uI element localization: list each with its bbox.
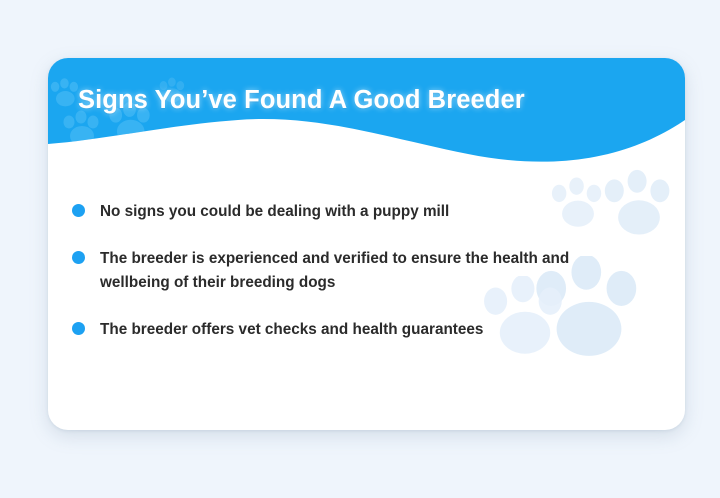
list-item: The breeder offers vet checks and health… [72,318,652,341]
bullet-dot-icon [72,204,85,217]
bullet-dot-icon [72,251,85,264]
list-item-label: The breeder is experienced and verified … [100,247,610,294]
bullet-dot-icon [72,322,85,335]
list-item-label: The breeder offers vet checks and health… [100,318,483,341]
list-item-label: No signs you could be dealing with a pup… [100,200,449,223]
list-item: The breeder is experienced and verified … [72,247,652,294]
list-item: No signs you could be dealing with a pup… [72,200,652,223]
card-header-banner [48,58,685,176]
signs-bullet-list: No signs you could be dealing with a pup… [72,200,652,341]
page-title: Signs You’ve Found A Good Breeder [78,86,525,115]
infographic-card: Signs You’ve Found A Good Breeder [48,58,685,430]
